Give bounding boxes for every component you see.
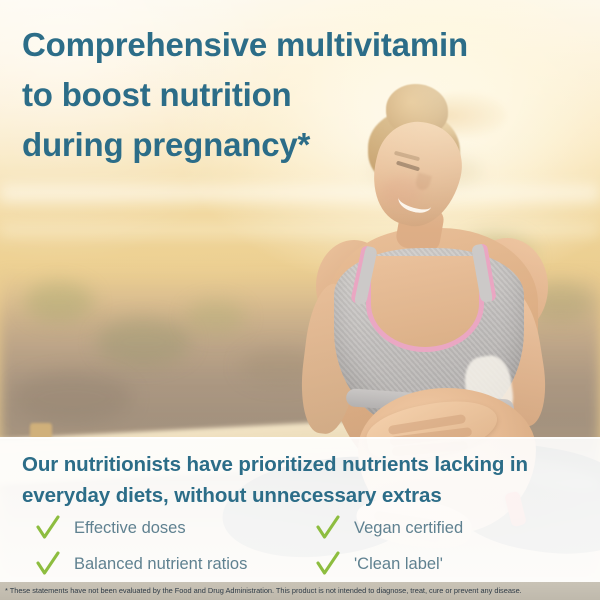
benefit-item-effective-doses: Effective doses (36, 515, 316, 541)
benefit-label: Effective doses (74, 518, 186, 538)
headline-line-2: to boost nutrition (22, 70, 542, 120)
subheading-line-1: Our nutritionists have prioritized nutri… (22, 449, 582, 480)
benefit-label: Balanced nutrient ratios (74, 554, 247, 574)
headline-line-1: Comprehensive multivitamin (22, 20, 542, 70)
benefits-panel: Our nutritionists have prioritized nutri… (0, 437, 600, 582)
subheading: Our nutritionists have prioritized nutri… (22, 449, 582, 511)
benefit-item-vegan-certified: Vegan certified (316, 515, 576, 541)
sports-bra-pink-trim (366, 256, 484, 352)
benefit-item-clean-label: 'Clean label' (316, 551, 576, 577)
headline: Comprehensive multivitamin to boost nutr… (22, 20, 542, 170)
headline-line-3: during pregnancy* (22, 120, 542, 170)
bokeh-blur (186, 300, 246, 334)
check-icon (316, 515, 340, 541)
check-icon (316, 551, 340, 577)
benefit-bullet-grid: Effective doses Vegan certified Balanced… (36, 515, 576, 577)
check-icon (36, 551, 60, 577)
benefit-item-balanced-nutrient-ratios: Balanced nutrient ratios (36, 551, 316, 577)
pregnancy-multivitamin-ad-banner: Comprehensive multivitamin to boost nutr… (0, 0, 600, 600)
benefit-label: Vegan certified (354, 518, 463, 538)
subheading-line-2: everyday diets, without unnecessary extr… (22, 480, 582, 511)
fda-disclaimer-bar: * These statements have not been evaluat… (0, 582, 600, 600)
disclaimer-text: * These statements have not been evaluat… (5, 586, 522, 596)
bokeh-blur (96, 318, 191, 366)
check-icon (36, 515, 60, 541)
bokeh-blur (24, 282, 94, 322)
panel-top-edge (0, 437, 600, 439)
benefit-label: 'Clean label' (354, 554, 443, 574)
